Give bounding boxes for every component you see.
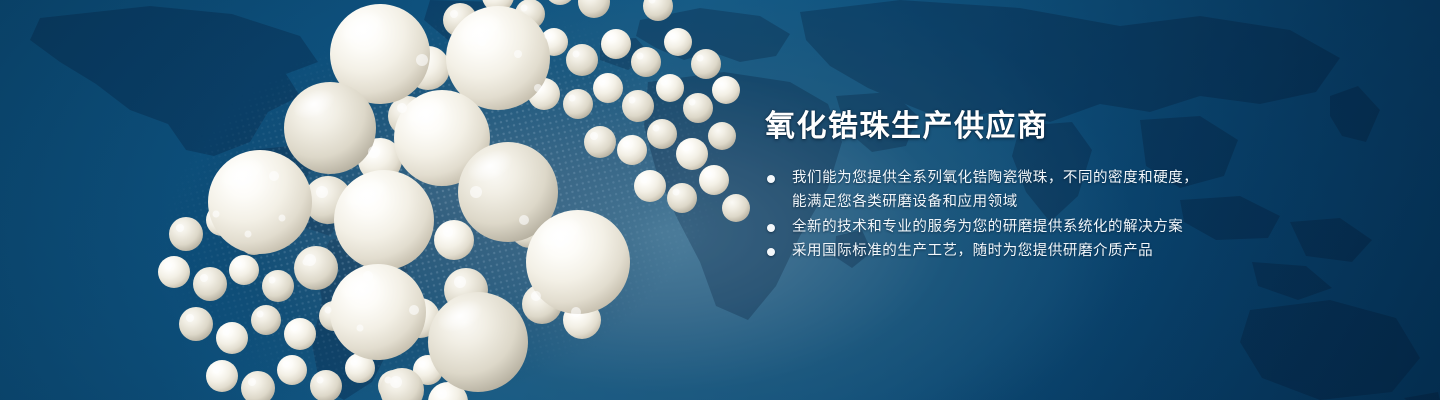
banner-bullet-item: 我们能为您提供全系列氧化锆陶瓷微珠，不同的密度和硬度， 能满足您各类研磨设备和应… <box>765 166 1385 215</box>
bullet-text-line-1: 全新的技术和专业的服务为您的研磨提供系统化的解决方案 <box>792 219 1183 235</box>
zirconia-beads-image <box>130 0 750 400</box>
banner-bullet-item: 全新的技术和专业的服务为您的研磨提供系统化的解决方案 <box>765 215 1385 240</box>
bullet-dot-icon <box>767 224 775 232</box>
banner-headline: 氧化锆珠生产供应商 <box>765 108 1385 146</box>
banner-copy: 氧化锆珠生产供应商 我们能为您提供全系列氧化锆陶瓷微珠，不同的密度和硬度， 能满… <box>765 108 1385 264</box>
banner-bullet-item: 采用国际标准的生产工艺，随时为您提供研磨介质产品 <box>765 239 1385 264</box>
promo-banner: 氧化锆珠生产供应商 我们能为您提供全系列氧化锆陶瓷微珠，不同的密度和硬度， 能满… <box>0 0 1440 400</box>
bullet-dot-icon <box>767 175 775 183</box>
bullet-text-line-1: 我们能为您提供全系列氧化锆陶瓷微珠，不同的密度和硬度， <box>792 170 1198 186</box>
banner-bullet-list: 我们能为您提供全系列氧化锆陶瓷微珠，不同的密度和硬度， 能满足您各类研磨设备和应… <box>765 166 1385 264</box>
bullet-text-line-2: 能满足您各类研磨设备和应用领域 <box>792 190 1385 215</box>
bullet-dot-icon <box>767 248 775 256</box>
bullet-text-line-1: 采用国际标准的生产工艺，随时为您提供研磨介质产品 <box>792 243 1153 259</box>
